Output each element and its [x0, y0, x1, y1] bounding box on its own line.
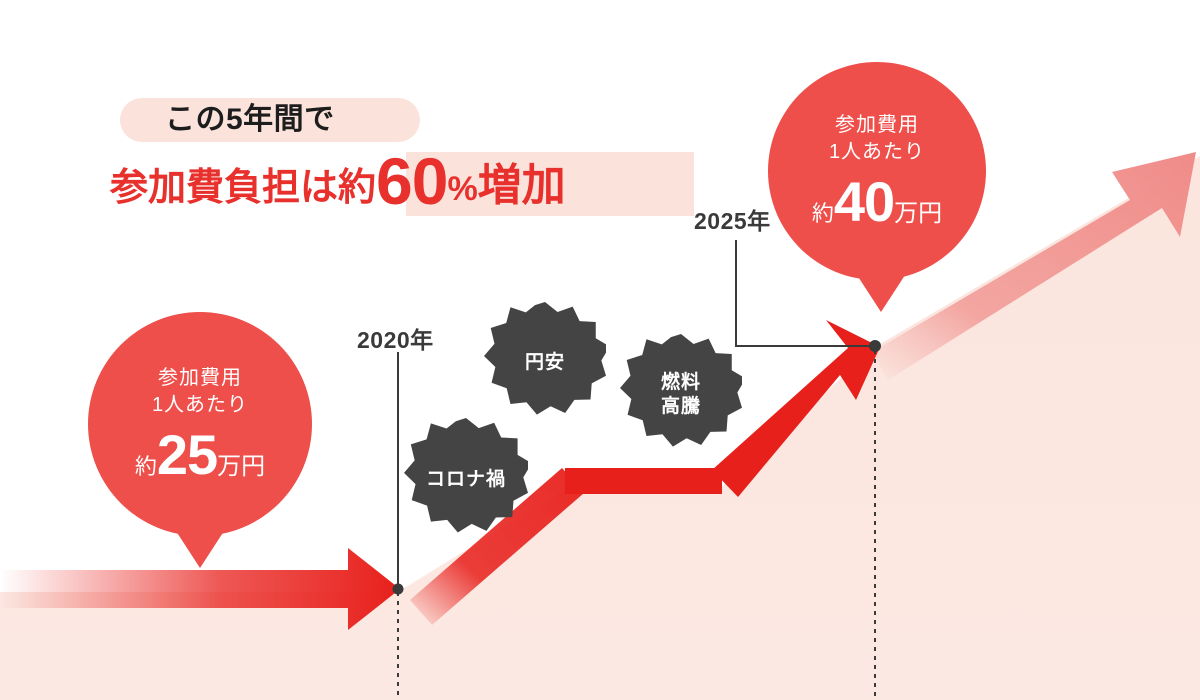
bubble-2020-amount-prefix: 約 — [135, 454, 157, 479]
headline-main-row: 参加費負担は約60%増加 — [110, 146, 730, 216]
callout-2025-cost[interactable]: 参加費用 1人あたり 約40万円 — [768, 62, 986, 280]
infographic-canvas: この5年間で 参加費負担は約60%増加 参加費用 1人あたり 約25万円 参加費… — [0, 0, 1200, 700]
bubble-2025-amount-prefix: 約 — [812, 201, 834, 226]
bubble-2025-line1: 参加費用 — [835, 112, 919, 139]
burst-label-corona: コロナ禍 — [426, 468, 506, 492]
headline-block: この5年間で 参加費負担は約60%増加 — [110, 96, 730, 216]
burst-label-fuel: 燃料高騰 — [661, 371, 701, 419]
bubble-2020-amount-number: 25 — [157, 423, 217, 486]
bubble-2020-tail — [174, 528, 226, 568]
bubble-2020-amount: 約25万円 — [135, 427, 265, 483]
headline-percent-sign: % — [447, 170, 477, 208]
year-label-2025: 2025年 — [694, 202, 771, 236]
year-label-2020: 2020年 — [357, 321, 434, 355]
headline-main-text: 参加費負担は約60%増加 — [110, 146, 566, 231]
burst-label-yen-weak: 円安 — [525, 351, 565, 375]
bubble-2025: 参加費用 1人あたり 約40万円 — [768, 62, 986, 280]
headline-badge-text: この5年間で — [165, 100, 335, 140]
bubble-2020-amount-unit: 万円 — [217, 453, 265, 480]
bubble-2020-line1: 参加費用 — [158, 365, 242, 392]
callout-2020-cost[interactable]: 参加費用 1人あたり 約25万円 — [88, 312, 312, 536]
headline-prefix: 参加費負担は約 — [110, 167, 376, 209]
bubble-2020: 参加費用 1人あたり 約25万円 — [88, 312, 312, 536]
data-point-2025 — [869, 340, 881, 352]
bubble-2025-amount: 約40万円 — [812, 174, 942, 230]
bubble-2025-tail — [855, 272, 907, 312]
headline-suffix: 増加 — [478, 161, 566, 210]
bubble-2020-line2: 1人あたり — [152, 392, 248, 419]
bubble-2025-line2: 1人あたり — [829, 139, 925, 166]
headline-number: 60 — [376, 144, 447, 218]
headline-badge-row: この5年間で — [110, 96, 730, 148]
data-point-2020 — [393, 584, 404, 595]
bubble-2025-amount-number: 40 — [834, 170, 894, 233]
bubble-2025-amount-unit: 万円 — [894, 200, 942, 227]
